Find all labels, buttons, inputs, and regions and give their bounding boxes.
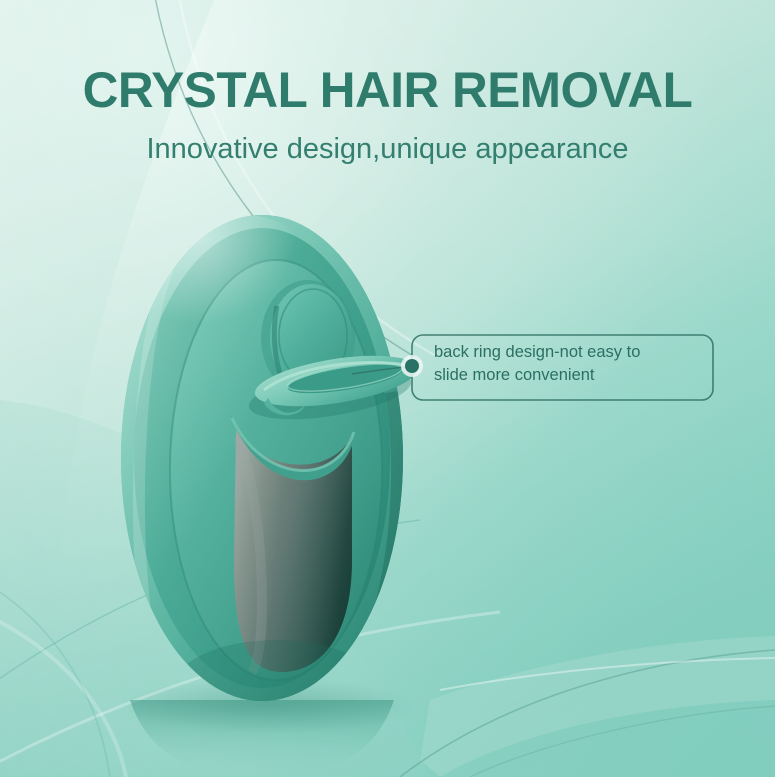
callout-dot-icon[interactable]	[405, 359, 419, 373]
callout-graphic	[0, 0, 775, 777]
callout-box[interactable]	[412, 335, 713, 400]
product-marketing-image: CRYSTAL HAIR REMOVAL Innovative design,u…	[0, 0, 775, 777]
